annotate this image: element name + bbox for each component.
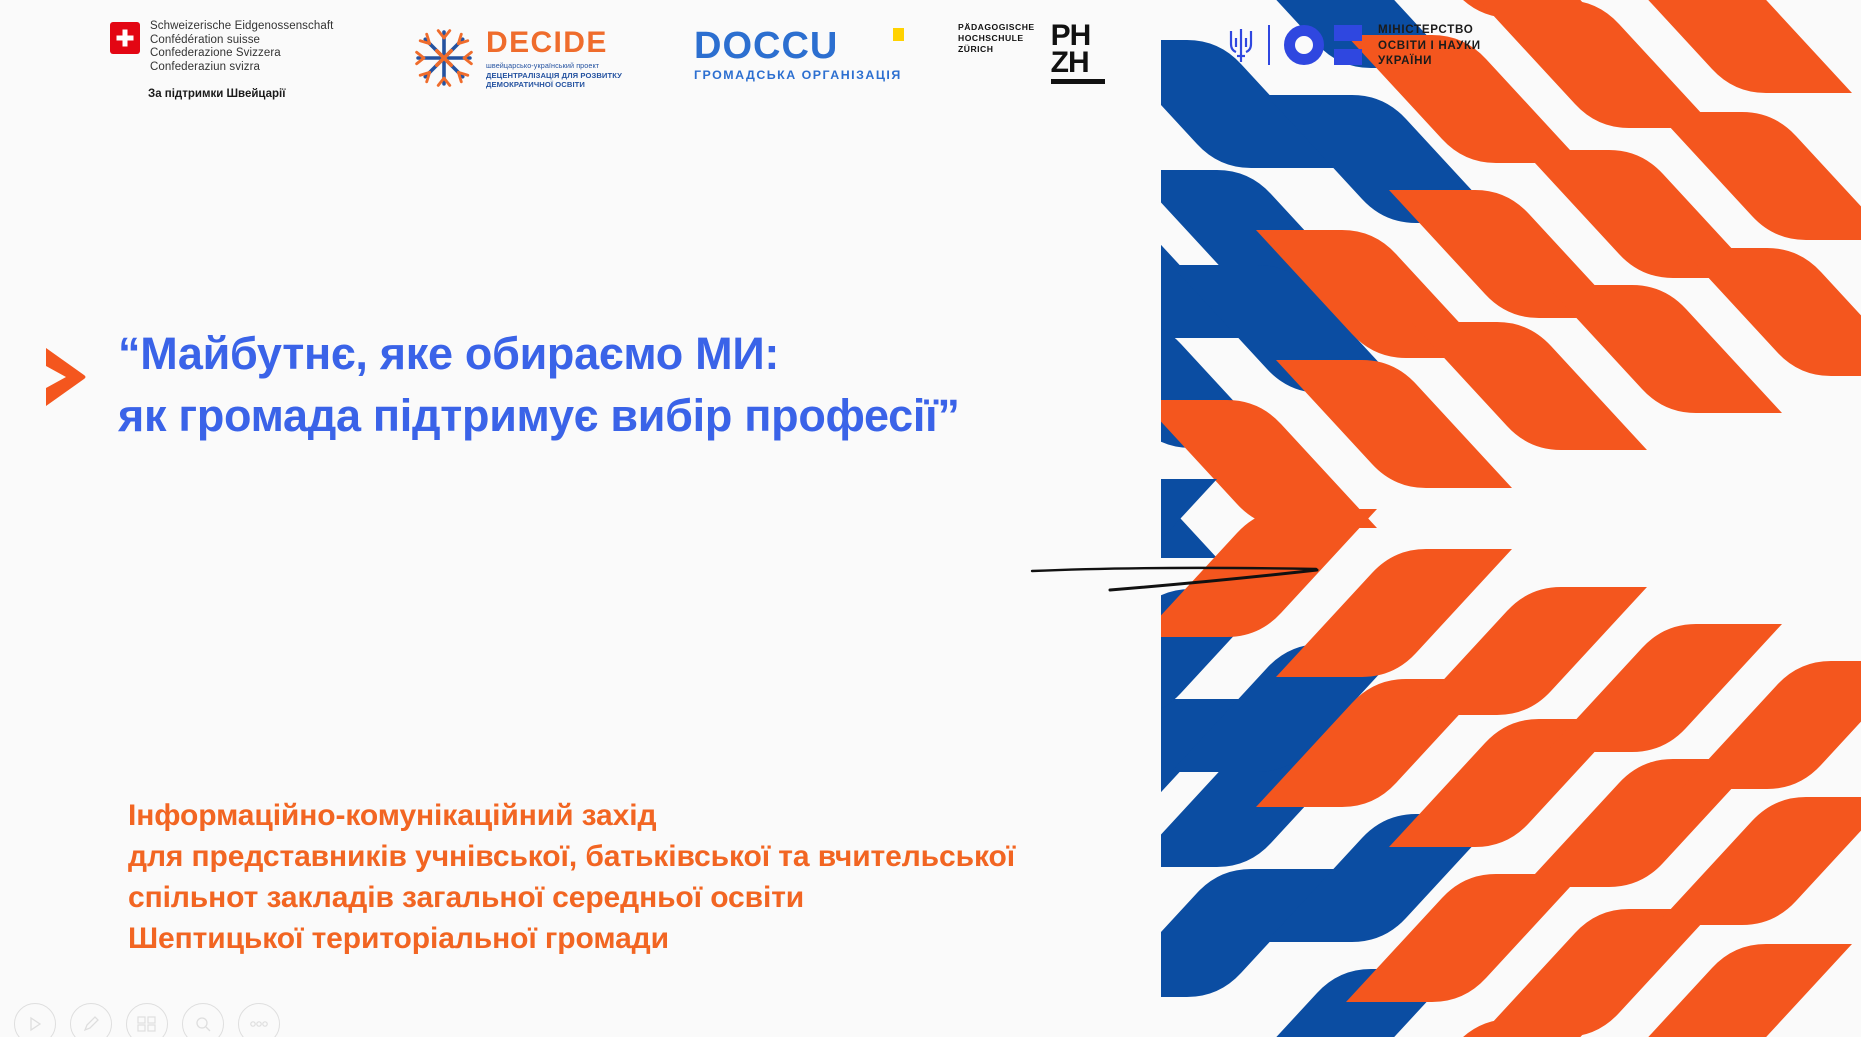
phzh-mark-bar [1051, 79, 1105, 84]
slide-title: “Майбутнє, яке обираємо МИ: як громада п… [118, 323, 1298, 447]
decide-subtitle-3: ДЕМОКРАТИЧНОЇ ОСВІТИ [486, 80, 622, 90]
phzh-line-2: HOCHSCHULE [958, 33, 1035, 44]
mon-equals-icon [1334, 25, 1362, 65]
zoom-button[interactable] [182, 1003, 224, 1037]
swiss-logo-line-3: Confederazione Svizzera [150, 47, 333, 61]
slide-subtitle-line-2: для представників учнівської, батьківськ… [128, 836, 1378, 877]
more-options-button[interactable] [238, 1003, 280, 1037]
ukraine-trident-icon [1228, 25, 1254, 65]
swiss-cross-icon [110, 22, 140, 54]
swiss-logo-line-2: Confédération suisse [150, 34, 333, 48]
phzh-line-1: PÄDAGOGISCHE [958, 22, 1035, 33]
decide-snowflake-icon [408, 22, 480, 94]
doccu-logo: DOCCU ГРОМАДСЬКА ОРГАНІЗАЦІЯ [694, 26, 902, 82]
present-button[interactable] [14, 1003, 56, 1037]
ellipsis-icon [249, 1020, 269, 1028]
slide-subtitle-line-1: Інформаційно-комунікаційний захід [128, 795, 1378, 836]
swiss-support-text: За підтримки Швейцарії [148, 88, 286, 100]
phzh-mark-icon: PH ZH [1051, 22, 1105, 84]
mon-ring-icon [1284, 25, 1324, 65]
doccu-wordmark: DOCCU [694, 26, 902, 66]
swiss-logo-line-1: Schweizerische Eidgenossenschaft [150, 20, 333, 34]
slide-subtitle-line-4: Шептицької територіальної громади [128, 918, 1378, 959]
mon-line-3: УКРАЇНИ [1378, 53, 1481, 69]
doccu-wordmark-text: DOCCU [694, 25, 838, 67]
decide-wordmark: DECIDE [486, 28, 622, 58]
doccu-yellow-accent-icon [893, 28, 904, 41]
phzh-logo: PÄDAGOGISCHE HOCHSCHULE ZÜRICH PH ZH [958, 22, 1105, 84]
mon-line-2: ОСВІТИ І НАУКИ [1378, 38, 1481, 54]
phzh-mark-top: PH [1051, 22, 1105, 49]
slide-title-line-2: як громада підтримує вибір професії” [118, 385, 1298, 447]
decide-subtitle-2: ДЕЦЕНТРАЛІЗАЦІЯ ДЛЯ РОЗВИТКУ [486, 71, 622, 81]
slide-subtitle: Інформаційно-комунікаційний захід для пр… [128, 795, 1378, 959]
phzh-mark-bottom: ZH [1051, 49, 1105, 76]
decide-logo: DECIDE швейцарсько-український проект ДЕ… [408, 22, 622, 94]
handdrawn-underline-squiggle [1030, 545, 1320, 595]
slide-subtitle-line-3: спільнот закладів загальної середньої ос… [128, 877, 1378, 918]
annotate-button[interactable] [70, 1003, 112, 1037]
presentation-slide: Schweizerische Eidgenossenschaft Confédé… [0, 0, 1861, 1037]
grid-icon [137, 1016, 157, 1032]
pen-icon [82, 1015, 100, 1033]
swiss-logo-line-4: Confederaziun svizra [150, 61, 333, 75]
ministry-of-education-ukraine-logo: МІНІСТЕРСТВО ОСВІТИ І НАУКИ УКРАЇНИ [1228, 22, 1481, 69]
magnifier-icon [194, 1015, 212, 1033]
slide-title-line-1: “Майбутнє, яке обираємо МИ: [118, 323, 1298, 385]
orange-chevron-bullet-icon [44, 346, 88, 408]
decide-subtitle-1: швейцарсько-український проект [486, 61, 622, 71]
swiss-confederation-logo: Schweizerische Eidgenossenschaft Confédé… [110, 20, 333, 74]
mon-line-1: МІНІСТЕРСТВО [1378, 22, 1481, 38]
phzh-line-3: ZÜRICH [958, 44, 1035, 55]
play-icon [27, 1016, 43, 1032]
logo-divider [1268, 25, 1270, 65]
partner-logo-bar: Schweizerische Eidgenossenschaft Confédé… [0, 0, 1861, 118]
layout-button[interactable] [126, 1003, 168, 1037]
presentation-toolbar[interactable] [14, 1003, 280, 1037]
doccu-subtitle: ГРОМАДСЬКА ОРГАНІЗАЦІЯ [694, 68, 902, 82]
